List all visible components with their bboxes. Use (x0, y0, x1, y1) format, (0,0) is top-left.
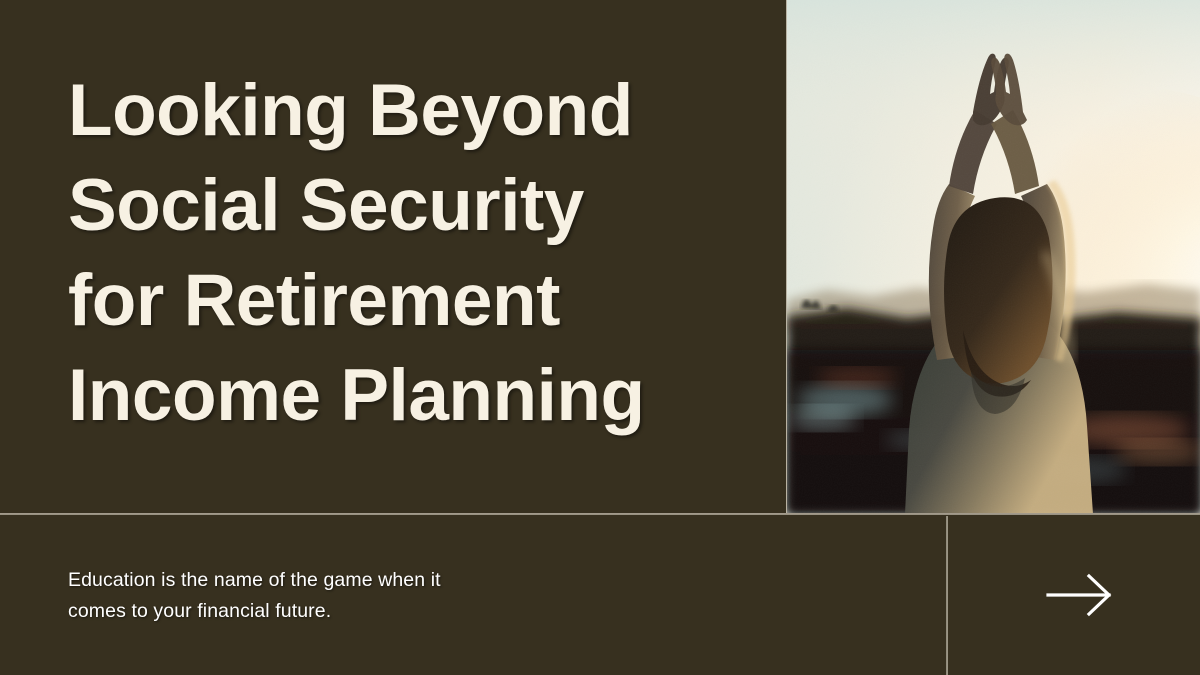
title-panel: Looking Beyond Social Security for Retir… (0, 0, 786, 514)
title-line-1: Looking Beyond (68, 63, 786, 158)
title-line-4: Income Planning (68, 348, 786, 443)
title-line-3: for Retirement (68, 253, 786, 348)
bottom-section: Education is the name of the game when i… (0, 515, 1200, 675)
subtitle-line-1: Education is the name of the game when i… (68, 565, 628, 596)
arrow-right-icon[interactable] (1045, 573, 1119, 617)
hero-photo-image (787, 0, 1200, 514)
subtitle: Education is the name of the game when i… (68, 565, 628, 627)
top-section: Looking Beyond Social Security for Retir… (0, 0, 1200, 514)
next-button[interactable] (1030, 555, 1134, 635)
event-banner: Looking Beyond Social Security for Retir… (0, 0, 1200, 675)
subtitle-line-2: comes to your financial future. (68, 596, 628, 627)
title-line-2: Social Security (68, 158, 786, 253)
hero-photo (786, 0, 1200, 514)
